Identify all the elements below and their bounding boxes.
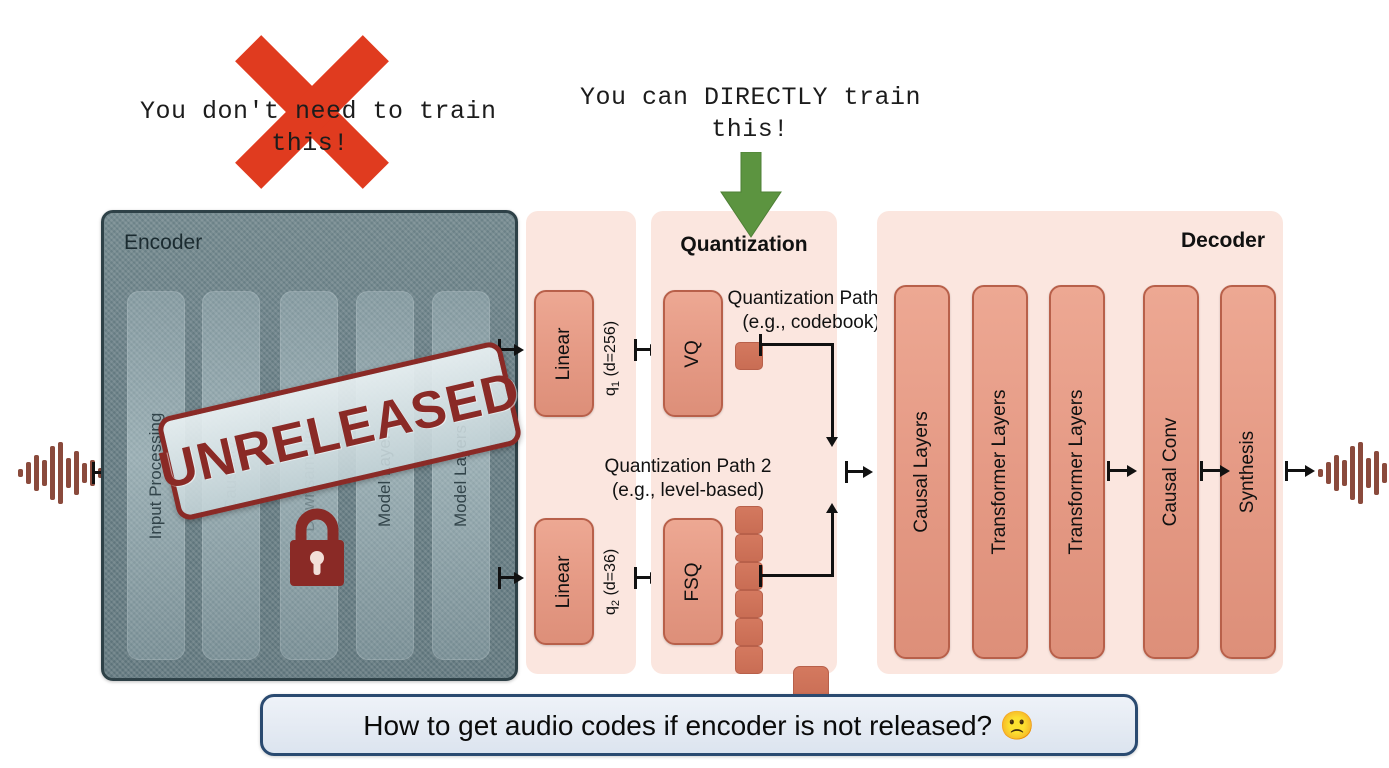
vq-block: VQ: [663, 290, 723, 417]
path1-conn-arrow: [826, 437, 838, 447]
projection-panel: Linear q1 (d=256) Linear q2 (d=36): [526, 211, 636, 674]
linear-block-2-label: Linear: [553, 555, 575, 608]
path2-token: [735, 506, 763, 534]
dec-out-line: [1285, 469, 1307, 472]
path2-token: [735, 618, 763, 646]
dec-conn1-arrow: [1127, 465, 1137, 477]
path2-token: [735, 646, 763, 674]
down-arrow-icon: [716, 152, 786, 238]
dec-conn2-line: [1200, 469, 1222, 472]
path2-conn-arrow: [826, 503, 838, 513]
dec-conn2-arrow: [1220, 465, 1230, 477]
q2-dim-label: q2 (d=36): [602, 549, 622, 615]
linear-block-1-label: Linear: [553, 327, 575, 380]
path2-label: Quantization Path 2 (e.g., level-based): [588, 455, 788, 503]
fsq-block: FSQ: [663, 518, 723, 645]
right-annotation-text: You can DIRECTLY train this!: [580, 82, 920, 146]
quantization-panel: Quantization VQ FSQ: [651, 211, 837, 674]
q1-dim-label: q1 (d=256): [602, 321, 622, 396]
linear-block-1: Linear: [534, 290, 594, 417]
dec-conn1-line: [1107, 469, 1129, 472]
left-annotation-text: You don't need to train this!: [140, 96, 480, 160]
decoder-layer-label: Causal Layers: [911, 411, 933, 532]
decoder-layer-label: Synthesis: [1237, 431, 1259, 513]
path1-conn-v: [831, 343, 834, 439]
fsq-block-label: FSQ: [682, 562, 704, 601]
decoder-layer-label: Causal Conv: [1160, 418, 1182, 527]
dec-out-arrow: [1305, 465, 1315, 477]
encoder-title: Encoder: [124, 231, 202, 255]
decoder-title: Decoder: [1181, 229, 1265, 253]
vq-block-label: VQ: [682, 340, 704, 367]
enc-out1-arrow: [514, 344, 524, 356]
quant-out-arrow: [863, 466, 873, 478]
decoder-layer-2: Transformer Layers: [1049, 285, 1105, 659]
path2-token: [735, 534, 763, 562]
decoder-panel: Decoder Causal Layers Transformer Layers…: [877, 211, 1283, 674]
path2-conn-h: [759, 574, 834, 577]
linear-block-2: Linear: [534, 518, 594, 645]
path1-conn-h: [759, 343, 834, 346]
diagram-canvas: You don't need to train this! You can DI…: [0, 0, 1389, 768]
decoder-layer-0: Causal Layers: [894, 285, 950, 659]
path2-token: [735, 590, 763, 618]
path2-conn-v: [831, 512, 834, 577]
decoder-layer-3: Causal Conv: [1143, 285, 1199, 659]
enc-out2-arrow: [514, 572, 524, 584]
audio-waveform-icon-output: [1318, 438, 1389, 508]
quant-out-line: [845, 470, 865, 473]
caption-box: How to get audio codes if encoder is not…: [260, 694, 1138, 756]
decoder-layer-label: Transformer Layers: [1066, 389, 1088, 554]
decoder-layer-1: Transformer Layers: [972, 285, 1028, 659]
lock-icon: [281, 504, 353, 590]
audio-waveform-icon-input: [18, 438, 103, 508]
path1-label: Quantization Path 1 (e.g., codebook): [726, 287, 896, 335]
decoder-layer-label: Transformer Layers: [989, 389, 1011, 554]
caption-text: How to get audio codes if encoder is not…: [363, 709, 1034, 742]
